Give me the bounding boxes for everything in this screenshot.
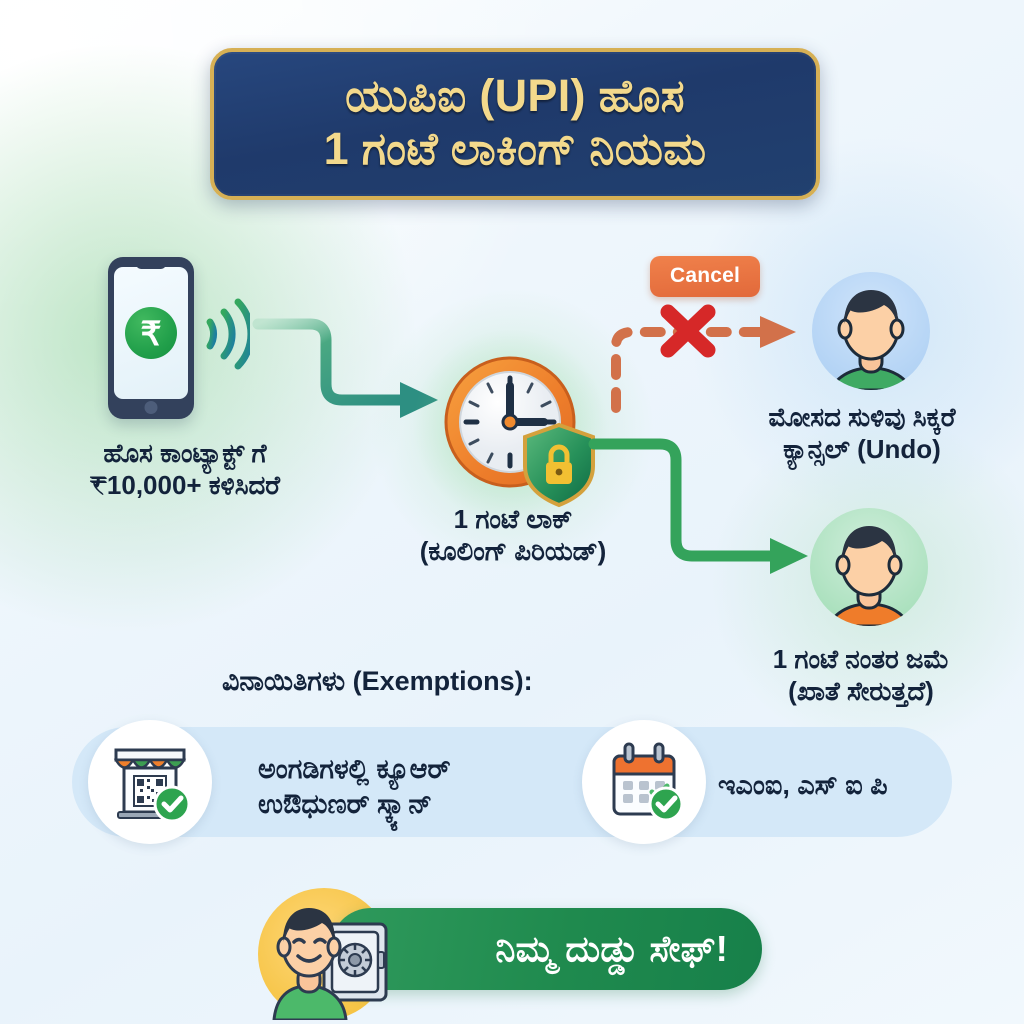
person-with-safe-icon	[268, 890, 396, 1020]
title-card: ಯುಪಿಐ (UPI) ಹೊಸ 1 ಗಂಟೆ ಲಾಕಿಂಗ್ ನಿಯಮ	[210, 48, 820, 200]
clock-icon-group	[440, 352, 580, 492]
phone-notch	[136, 263, 166, 269]
arrow-credit-branch	[588, 424, 838, 584]
avatar-cancel-user	[812, 272, 930, 390]
cancel-badge[interactable]: Cancel	[650, 256, 760, 297]
red-x-icon	[655, 300, 721, 362]
avatar-credit-user	[810, 508, 928, 626]
title-line-2: 1 ಗಂಟೆ ಲಾಕಿಂಗ್ ನಿಯಮ	[324, 122, 707, 175]
nfc-wave-icon	[202, 288, 250, 380]
rupee-coin-icon: ₹	[125, 307, 177, 359]
shield-lock-icon	[520, 422, 598, 508]
infographic-canvas: ಯುಪಿಐ (UPI) ಹೊಸ 1 ಗಂಟೆ ಲಾಕಿಂಗ್ ನಿಯಮ ₹ ಹೊ…	[0, 0, 1024, 1024]
shop-qr-icon	[102, 734, 198, 830]
title-banner: ಯುಪಿಐ (UPI) ಹೊಸ 1 ಗಂಟೆ ಲಾಕಿಂಗ್ ನಿಯಮ	[210, 48, 820, 200]
exemptions-heading: ವಿನಾಯಿತಿಗಳು (Exemptions):	[222, 666, 533, 698]
smartphone-icon: ₹	[108, 257, 194, 419]
credit-branch-caption: 1 ಗಂಟೆ ನಂತರ ಜಮೆ (ಖಾತೆ ಸೇರುತ್ತದೆ)	[706, 644, 1016, 707]
exemption-label-shop: ಅಂಗಡಿಗಳಲ್ಲಿ ಕ್ಯೂಆರ್ ಉಔಧುಣರ್ ಸ್ಕ್ಯಾನ್	[258, 752, 451, 821]
person-icon	[812, 272, 930, 390]
exemption-item-shop	[88, 720, 212, 844]
exemption-label-calendar: ಇಎಂಐ, ಎಸ್ ಐ ಪಿ	[718, 768, 888, 803]
phone-home-button	[145, 401, 158, 414]
person-icon	[810, 508, 928, 626]
footer-text: ನಿಮ್ಮ ದುಡ್ಡು ಸೇಫ್!	[495, 928, 728, 971]
calendar-icon	[598, 736, 690, 828]
phone-screen: ₹	[114, 267, 188, 399]
phone-caption: ಹೊಸ ಕಾಂಟ್ಯಾಕ್ಟ್ ಗೆ ₹10,000+ ಕಳಿಸಿದರೆ	[40, 438, 330, 501]
exemption-item-calendar	[582, 720, 706, 844]
title-line-1: ಯುಪಿಐ (UPI) ಹೊಸ	[345, 69, 685, 122]
